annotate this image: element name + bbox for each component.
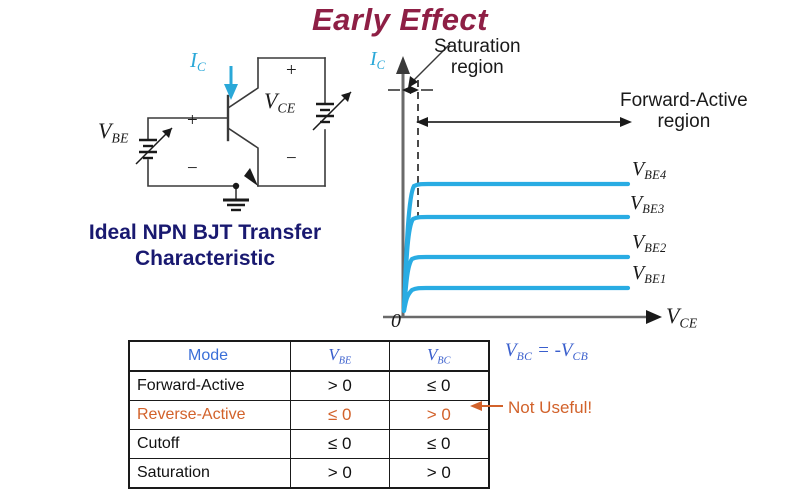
- slide-canvas: Early Effect: [0, 0, 800, 499]
- not-useful-label: Not Useful!: [508, 398, 592, 418]
- not-useful-arrow-icon: [470, 401, 503, 411]
- not-useful-callout: [0, 0, 800, 499]
